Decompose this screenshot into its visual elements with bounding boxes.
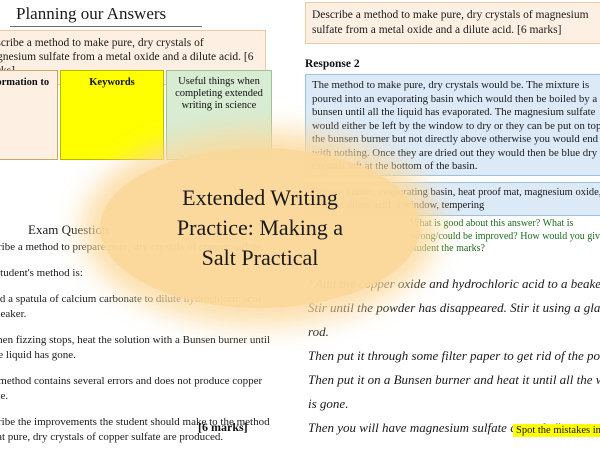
handwriting-line-4: Then put it on a Bunsen burner and heat … bbox=[308, 368, 600, 416]
body-paragraph-4: 2. When fizzing stops, heat the solution… bbox=[0, 333, 272, 363]
planning-column-useful-things-header: Useful things when completing extended w… bbox=[167, 71, 271, 112]
spark-logo: Spark bbox=[596, 404, 600, 440]
exam-question-heading: Exam Question bbox=[28, 222, 109, 238]
title-overlay-text: Extended Writing Practice: Making a Salt… bbox=[100, 148, 420, 308]
right-question-box: Describe a method to make pure, dry crys… bbox=[305, 2, 600, 44]
planning-column-useful-things: Useful things when completing extended w… bbox=[166, 70, 272, 160]
slide-page: Planning our Answers Describe a method t… bbox=[0, 0, 600, 450]
planning-column-information-header: Information to bbox=[0, 71, 57, 88]
overlay-title-line-3: Salt Practical bbox=[202, 243, 319, 273]
planning-columns: Information to Keywords Useful things wh… bbox=[0, 70, 274, 160]
title-underline bbox=[10, 26, 202, 27]
spark-logo-label: Spark bbox=[596, 425, 600, 432]
planning-column-keywords-header: Keywords bbox=[61, 71, 163, 88]
spot-mistakes-highlight: Spot the mistakes in this answer bbox=[513, 424, 600, 437]
overlay-title-line-1: Extended Writing bbox=[182, 183, 338, 213]
handwriting-line-3: Then put it through some filter paper to… bbox=[308, 344, 600, 368]
left-marks-label: [6 marks] bbox=[198, 420, 248, 435]
planning-column-information: Information to bbox=[0, 70, 58, 160]
green-note: What is good about this answer? What is … bbox=[410, 218, 600, 256]
body-paragraph-5: This method contains several errors and … bbox=[0, 374, 272, 404]
response-label: Response 2 bbox=[305, 58, 360, 70]
overlay-title-line-2: Practice: Making a bbox=[177, 213, 343, 243]
planning-column-keywords: Keywords bbox=[60, 70, 164, 160]
left-slide-title: Planning our Answers bbox=[16, 4, 166, 24]
